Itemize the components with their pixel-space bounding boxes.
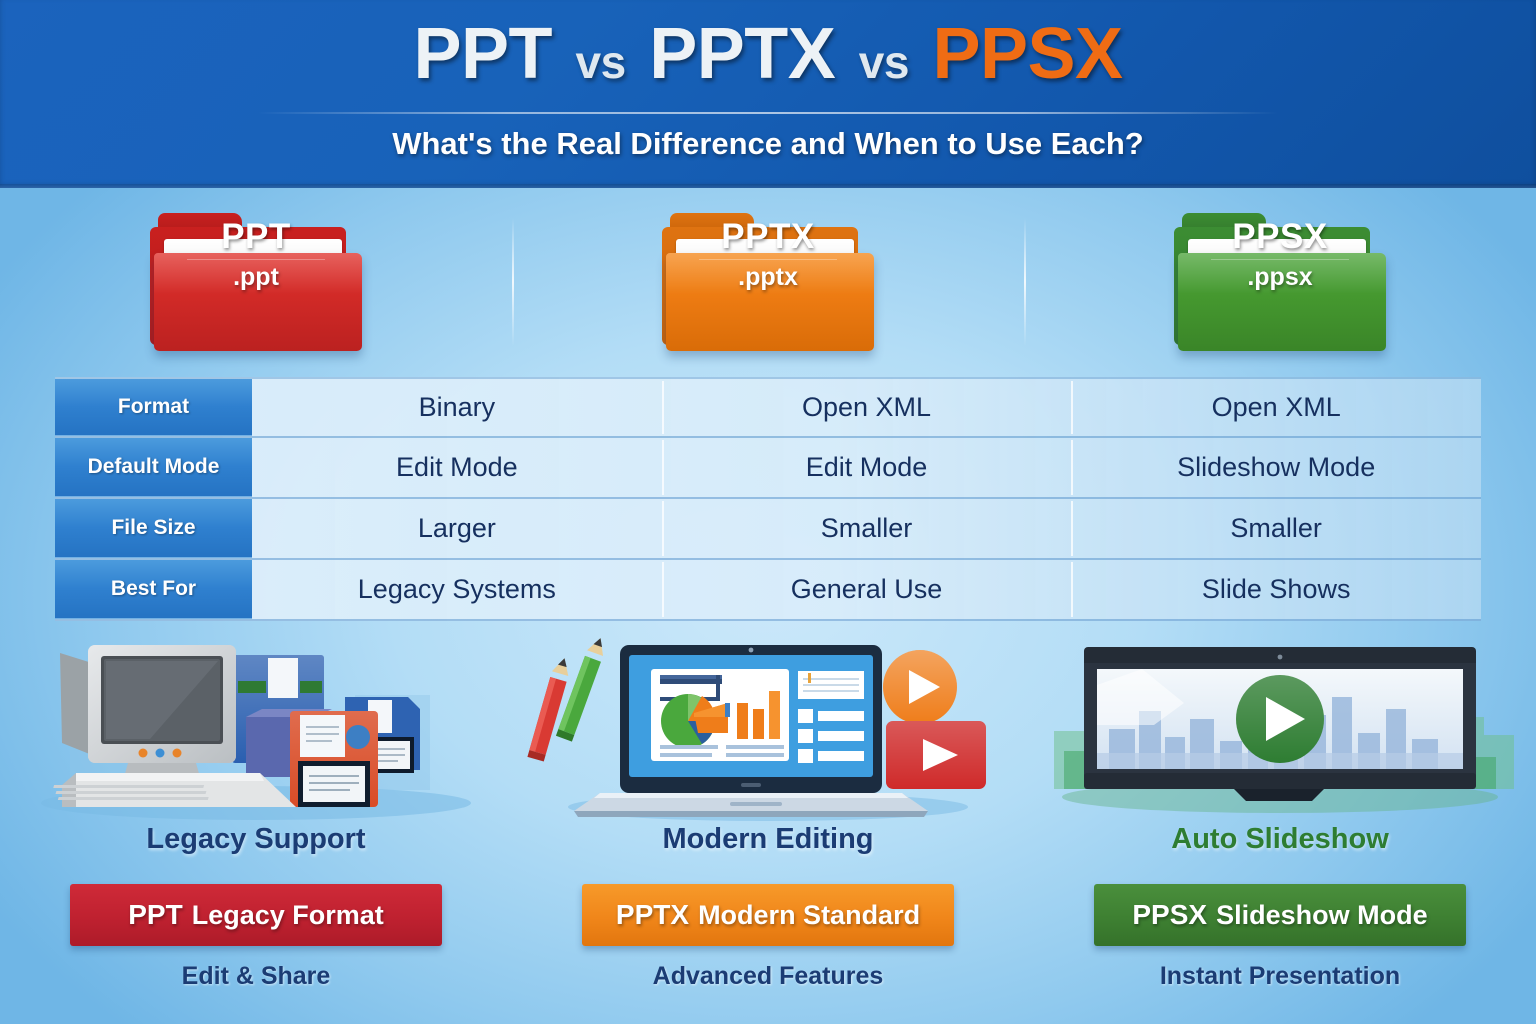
folder-icons-row: PPT .ppt PPTX .pptx xyxy=(0,200,1536,365)
folder-name-ppsx: PPSX xyxy=(1174,219,1386,256)
page-subtitle: What's the Real Difference and When to U… xyxy=(0,126,1536,162)
folder-column-pptx: PPTX .pptx xyxy=(512,200,1024,365)
banner-ppsx-label: Slideshow Mode xyxy=(1216,900,1428,931)
folder-column-ppsx: PPSX .ppsx xyxy=(1024,200,1536,365)
title-divider xyxy=(258,112,1278,114)
cell-best-for-pptx: General Use xyxy=(662,560,1072,619)
row-label-default-mode: Default Mode xyxy=(55,438,252,497)
bottom-banners-row: PPT Legacy Format Edit & Share PPTX Mode… xyxy=(0,884,1536,991)
banner-column-ppsx: PPSX Slideshow Mode Instant Presentation xyxy=(1024,884,1536,991)
row-label-best-for: Best For xyxy=(55,560,252,619)
illustration-caption-slideshow: Auto Slideshow xyxy=(1024,823,1536,856)
cell-format-ppsx: Open XML xyxy=(1071,379,1481,436)
laptop-chart-icon xyxy=(512,625,1024,825)
folder-extension-pptx: .pptx xyxy=(662,263,874,292)
banner-pptx-bold: PPTX xyxy=(616,899,689,931)
folder-rule xyxy=(699,259,837,260)
table-row: Format Binary Open XML Open XML xyxy=(55,377,1481,438)
banner-pptx[interactable]: PPTX Modern Standard xyxy=(582,884,954,946)
cell-default-mode-ppt: Edit Mode xyxy=(252,438,662,497)
folder-icon-ppsx[interactable]: PPSX .ppsx xyxy=(1174,213,1386,353)
banner-ppt-label: Legacy Format xyxy=(192,900,384,931)
title-ppt: PPT xyxy=(413,14,552,94)
cell-format-ppt: Binary xyxy=(252,379,662,436)
cell-file-size-pptx: Smaller xyxy=(662,499,1072,558)
illustration-caption-legacy: Legacy Support xyxy=(0,823,512,856)
folder-label-group: PPTX .pptx xyxy=(662,219,874,293)
folder-column-ppt: PPT .ppt xyxy=(0,200,512,365)
cell-default-mode-pptx: Edit Mode xyxy=(662,438,1072,497)
illustration-column-slideshow: Auto Slideshow xyxy=(1024,625,1536,870)
cell-best-for-ppsx: Slide Shows xyxy=(1071,560,1481,619)
illustration-column-legacy: Legacy Support xyxy=(0,625,512,870)
table-row: Default Mode Edit Mode Edit Mode Slidesh… xyxy=(55,438,1481,499)
cell-best-for-ppt: Legacy Systems xyxy=(252,560,662,619)
table-row: File Size Larger Smaller Smaller xyxy=(55,499,1481,560)
banner-subcaption-ppsx: Instant Presentation xyxy=(1160,962,1400,991)
folder-icon-ppt[interactable]: PPT .ppt xyxy=(150,213,362,353)
comparison-table: Format Binary Open XML Open XML Default … xyxy=(55,377,1481,621)
banner-ppt[interactable]: PPT Legacy Format xyxy=(70,884,442,946)
folder-label-group: PPT .ppt xyxy=(150,219,362,293)
banner-column-ppt: PPT Legacy Format Edit & Share xyxy=(0,884,512,991)
illustrations-row: Legacy Support xyxy=(0,625,1536,870)
illustration-column-modern: Modern Editing xyxy=(512,625,1024,870)
table-row: Best For Legacy Systems General Use Slid… xyxy=(55,560,1481,621)
banner-subcaption-ppt: Edit & Share xyxy=(182,962,331,991)
cell-default-mode-ppsx: Slideshow Mode xyxy=(1071,438,1481,497)
title-pptx: PPTX xyxy=(649,14,835,94)
header-banner: PPT vs PPTX vs PPSX What's the Real Diff… xyxy=(0,0,1536,188)
cell-format-pptx: Open XML xyxy=(662,379,1072,436)
illustration-caption-modern: Modern Editing xyxy=(512,823,1024,856)
folder-label-group: PPSX .ppsx xyxy=(1174,219,1386,293)
folder-icon-pptx[interactable]: PPTX .pptx xyxy=(662,213,874,353)
page-title: PPT vs PPTX vs PPSX xyxy=(0,18,1536,91)
projector-screen-icon xyxy=(1024,625,1536,825)
banner-ppt-bold: PPT xyxy=(128,899,182,931)
folder-rule xyxy=(187,259,325,260)
cell-file-size-ppsx: Smaller xyxy=(1071,499,1481,558)
row-label-format: Format xyxy=(55,379,252,436)
banner-subcaption-pptx: Advanced Features xyxy=(653,962,884,991)
folder-extension-ppsx: .ppsx xyxy=(1174,263,1386,292)
banner-column-pptx: PPTX Modern Standard Advanced Features xyxy=(512,884,1024,991)
folder-name-ppt: PPT xyxy=(150,219,362,256)
title-ppsx: PPSX xyxy=(932,14,1122,94)
title-vs-2: vs xyxy=(855,36,913,88)
infographic-root: PPT vs PPTX vs PPSX What's the Real Diff… xyxy=(0,0,1536,1024)
folder-extension-ppt: .ppt xyxy=(150,263,362,292)
cell-file-size-ppt: Larger xyxy=(252,499,662,558)
title-vs-1: vs xyxy=(572,36,630,88)
banner-ppsx[interactable]: PPSX Slideshow Mode xyxy=(1094,884,1466,946)
crt-computer-icon xyxy=(0,625,512,825)
folder-name-pptx: PPTX xyxy=(662,219,874,256)
banner-pptx-label: Modern Standard xyxy=(698,900,920,931)
row-label-file-size: File Size xyxy=(55,499,252,558)
banner-ppsx-bold: PPSX xyxy=(1132,899,1207,931)
folder-rule xyxy=(1211,259,1349,260)
